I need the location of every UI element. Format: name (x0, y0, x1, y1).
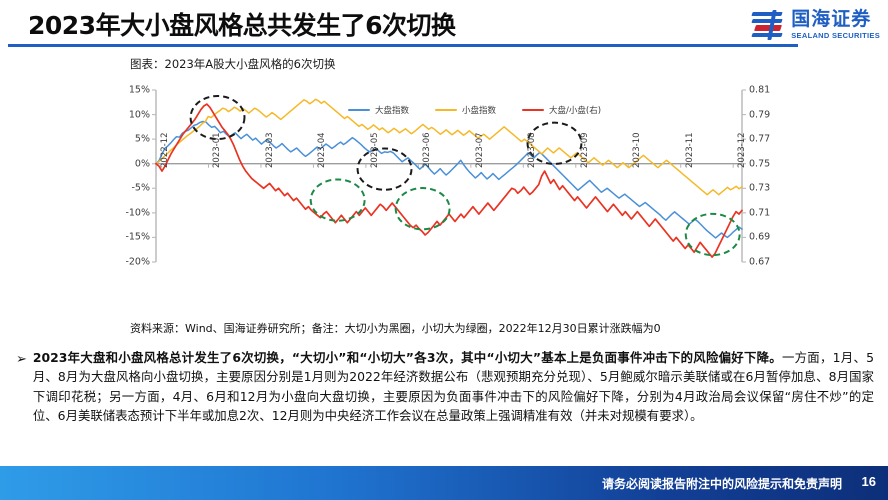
slide-footer: 请务必阅读报告附注中的风险提示和免责声明 16 (0, 466, 888, 500)
y-axis-right-tick: 0.81 (749, 85, 770, 96)
x-axis-tick: 2023-06 (422, 132, 432, 168)
legend-color-swatch (435, 109, 457, 112)
legend-item[interactable]: 大盘/小盘(右) (522, 104, 601, 116)
y-axis-left-tick: -10% (120, 207, 150, 218)
y-axis-left-tick: -20% (120, 257, 150, 268)
figure-block: 图表：2023年A股大小盘风格的6次切换 大盘指数小盘指数大盘/小盘(右) 15… (120, 56, 780, 341)
y-axis-right-tick: 0.79 (749, 109, 770, 120)
legend-label: 大盘/小盘(右) (549, 104, 601, 116)
logo-text-en: SEALAND SECURITIES (791, 32, 880, 40)
y-axis-left-tick: -5% (120, 183, 150, 194)
legend-item[interactable]: 小盘指数 (435, 104, 496, 116)
y-axis-left-tick: -15% (120, 232, 150, 243)
body-paragraph: 2023年大盘和小盘风格总计发生了6次切换，“大切小”和“小切大”各3次，其中“… (33, 348, 874, 425)
slide-root: 2023年大小盘风格总共发生了6次切换 国海证券 SEALAND SECURIT… (0, 0, 888, 500)
x-axis-tick: 2023-12 (737, 132, 747, 168)
y-axis-right-tick: 0.77 (749, 134, 770, 145)
line-chart: 大盘指数小盘指数大盘/小盘(右) 15%10%5%0%-5%-10%-15%-2… (120, 78, 780, 318)
bullet-arrow-icon: ➢ (16, 348, 27, 369)
logo-text-cn: 国海证券 (791, 10, 880, 29)
y-axis-right-tick: 0.71 (749, 207, 770, 218)
y-axis-left-tick: 15% (120, 85, 150, 96)
y-axis-right-tick: 0.75 (749, 158, 770, 169)
legend-color-swatch (522, 109, 544, 112)
x-axis-tick: 2023-01 (212, 132, 222, 168)
y-axis-right-tick: 0.73 (749, 183, 770, 194)
y-axis-left-tick: 5% (120, 134, 150, 145)
legend-label: 小盘指数 (462, 104, 496, 116)
x-axis-tick: 2023-04 (317, 132, 327, 168)
page-title: 2023年大小盘风格总共发生了6次切换 (28, 6, 455, 42)
x-axis-tick: 2023-03 (265, 132, 275, 168)
y-axis-left-tick: 10% (120, 109, 150, 120)
x-axis-tick: 2023-08 (527, 132, 537, 168)
company-logo: 国海证券 SEALAND SECURITIES (751, 9, 880, 41)
footer-disclaimer: 请务必阅读报告附注中的风险提示和免责声明 (602, 475, 842, 492)
x-axis-tick: 2023-05 (370, 132, 380, 168)
x-axis-tick: 2023-10 (632, 132, 642, 168)
legend-color-swatch (348, 109, 370, 112)
x-axis-tick: 2022-12 (160, 132, 170, 168)
legend-item[interactable]: 大盘指数 (348, 104, 409, 116)
header-divider (8, 44, 798, 47)
y-axis-right-tick: 0.69 (749, 232, 770, 243)
page-number: 16 (862, 474, 876, 489)
x-axis-tick: 2023-09 (580, 132, 590, 168)
chart-legend: 大盘指数小盘指数大盘/小盘(右) (348, 104, 601, 116)
body-paragraph-lead: 2023年大盘和小盘风格总计发生了6次切换，“大切小”和“小切大”各3次，其中“… (33, 350, 782, 365)
y-axis-left-tick: 0% (120, 158, 150, 169)
y-axis-right-tick: 0.67 (749, 257, 770, 268)
sealand-emblem-icon (751, 9, 785, 41)
figure-caption: 图表：2023年A股大小盘风格的6次切换 (130, 56, 335, 72)
x-axis-tick: 2023-07 (475, 132, 485, 168)
figure-source-note: 资料来源：Wind、国海证券研究所；备注：大切小为黑圈，小切大为绿圈，2022年… (130, 320, 661, 336)
legend-label: 大盘指数 (375, 104, 409, 116)
x-axis-tick: 2023-11 (685, 132, 695, 168)
body-paragraph-block: ➢ 2023年大盘和小盘风格总计发生了6次切换，“大切小”和“小切大”各3次，其… (16, 348, 874, 425)
slide-header: 2023年大小盘风格总共发生了6次切换 国海证券 SEALAND SECURIT… (0, 0, 888, 52)
